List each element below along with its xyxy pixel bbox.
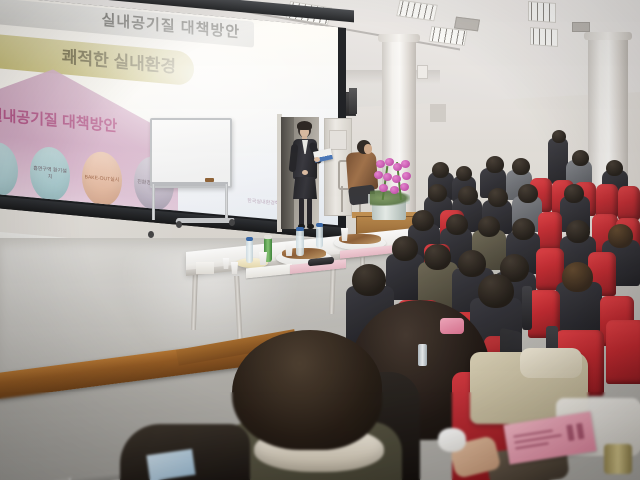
water-bottle bbox=[296, 230, 304, 256]
caster-wheel-icon bbox=[229, 219, 235, 226]
ceiling-light-icon bbox=[530, 27, 558, 47]
water-bottle bbox=[418, 344, 427, 366]
attendee-head bbox=[488, 188, 508, 207]
attendee-standing bbox=[548, 138, 568, 184]
foreground-hair bbox=[232, 330, 382, 450]
orchid-stem bbox=[382, 166, 389, 200]
seated-person-face bbox=[364, 144, 372, 154]
presenter-shoe bbox=[307, 224, 314, 229]
presenter-hand bbox=[314, 157, 320, 162]
auditorium-photo: 발표회 표회 구대학교 환경공학과 실내공기질 대책방안 쾌적한 실내환경 실내… bbox=[0, 0, 640, 480]
orchid-petal bbox=[392, 175, 401, 183]
orchid-petal bbox=[376, 160, 385, 168]
whiteboard-base bbox=[175, 218, 235, 223]
pink-pouch bbox=[440, 318, 464, 334]
orchid-petal bbox=[374, 171, 383, 179]
whiteboard bbox=[150, 118, 232, 188]
stage-chair-leg bbox=[341, 186, 343, 212]
ceiling-vent-icon bbox=[572, 22, 590, 32]
attendee-head bbox=[566, 220, 590, 243]
orchid-petal bbox=[400, 183, 409, 191]
attendee-head bbox=[564, 184, 584, 203]
orchid-petal bbox=[401, 160, 410, 168]
attendee-head bbox=[478, 216, 500, 237]
tissue-box bbox=[196, 262, 214, 274]
attendee-head bbox=[572, 150, 589, 166]
attendee-head bbox=[456, 166, 472, 181]
attendee-head bbox=[428, 184, 447, 202]
column-capital bbox=[584, 32, 632, 40]
presenter-hand bbox=[302, 170, 308, 175]
orchid-petal bbox=[383, 173, 392, 181]
water-bottle bbox=[316, 226, 323, 248]
auditorium-seat[interactable] bbox=[538, 212, 562, 250]
presenter bbox=[288, 122, 322, 232]
caster-wheel-icon bbox=[148, 231, 154, 238]
attendee-head bbox=[486, 156, 504, 173]
ceiling-light-icon bbox=[528, 1, 556, 23]
foreground-attendee-left bbox=[232, 330, 402, 480]
attendee-head bbox=[512, 218, 535, 240]
attendee-head bbox=[458, 186, 478, 205]
booklet-text-line bbox=[566, 424, 574, 441]
attendee-head bbox=[608, 224, 633, 248]
attendee-head bbox=[606, 160, 623, 176]
orchid-petal bbox=[402, 172, 411, 180]
attendee-head bbox=[562, 262, 593, 292]
presenter-leg bbox=[299, 198, 304, 226]
whiteboard-tray bbox=[150, 182, 228, 186]
orchid-arrangement bbox=[368, 158, 416, 208]
presenter-hair bbox=[297, 121, 312, 130]
attendee-head bbox=[552, 130, 566, 143]
attendee-head bbox=[518, 184, 538, 203]
caster-wheel-icon bbox=[176, 221, 182, 228]
orchid-petal bbox=[390, 186, 399, 194]
auditorium-seat[interactable] bbox=[618, 186, 640, 220]
attendee-head bbox=[412, 210, 434, 231]
orchid-petal bbox=[379, 184, 388, 192]
attendee-head bbox=[512, 158, 530, 175]
presenter-leg bbox=[307, 198, 312, 226]
column-capital bbox=[378, 34, 420, 42]
attendee-head bbox=[432, 162, 449, 178]
handbag-flap bbox=[520, 348, 582, 378]
seat-armrest bbox=[522, 286, 532, 330]
notebook bbox=[146, 449, 195, 480]
attendee-head bbox=[392, 236, 418, 261]
presenter-skirt bbox=[293, 177, 317, 199]
whiteboard-marker-icon bbox=[205, 178, 214, 182]
attendee-head bbox=[424, 244, 451, 270]
attendee-head bbox=[458, 250, 486, 277]
can-drink bbox=[604, 444, 632, 474]
water-bottle bbox=[246, 240, 253, 263]
attendee-head bbox=[352, 264, 386, 296]
whiteboard-leg bbox=[225, 184, 228, 220]
wall-sign bbox=[430, 104, 446, 122]
attendee-head bbox=[446, 214, 468, 235]
whiteboard-leg bbox=[152, 184, 155, 220]
tissue bbox=[438, 428, 466, 452]
booklet-text-line bbox=[515, 442, 549, 449]
auditorium-seat[interactable] bbox=[596, 184, 618, 218]
auditorium-seat[interactable] bbox=[606, 320, 640, 384]
wall-switch-icon bbox=[417, 65, 428, 79]
booklet-text-line bbox=[576, 423, 584, 440]
